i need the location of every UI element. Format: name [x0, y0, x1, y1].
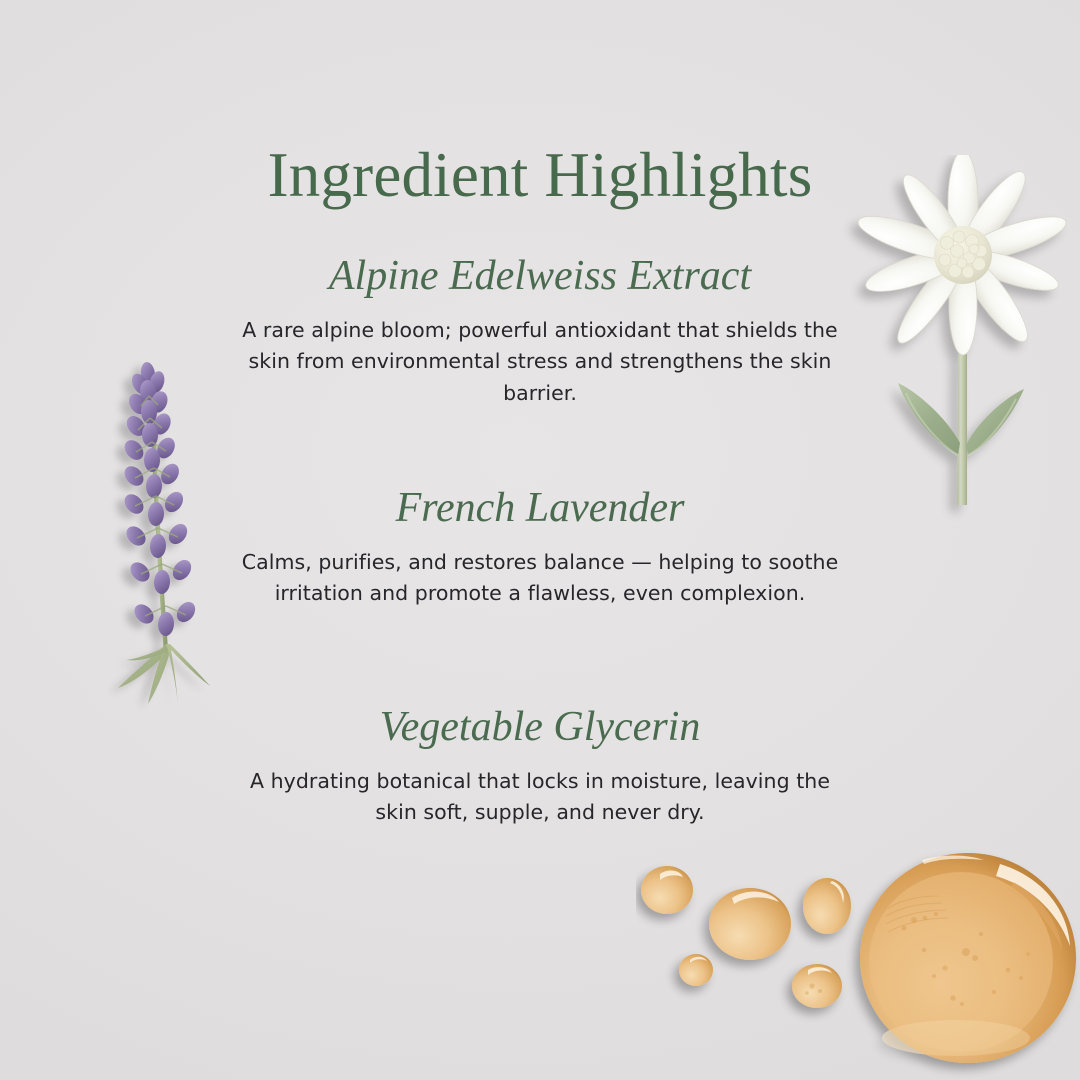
glycerin-droplets-image: [636, 846, 1080, 1080]
ingredient-description-edelweiss: A rare alpine bloom; powerful antioxidan…: [240, 315, 840, 410]
ingredient-description-glycerin: A hydrating botanical that locks in mois…: [240, 766, 840, 829]
ingredient-block-edelweiss: Alpine Edelweiss Extract A rare alpine b…: [240, 252, 840, 409]
lavender-sprig-image: [96, 352, 236, 712]
ingredient-name-glycerin: Vegetable Glycerin: [240, 703, 840, 752]
ingredient-block-lavender: French Lavender Calms, purifies, and res…: [240, 484, 840, 610]
ingredient-block-glycerin: Vegetable Glycerin A hydrating botanical…: [240, 703, 840, 829]
edelweiss-flower-image: [838, 155, 1080, 545]
poster-canvas: Ingredient Highlights Alpine Edelweiss E…: [0, 0, 1080, 1080]
ingredient-description-lavender: Calms, purifies, and restores balance — …: [240, 547, 840, 610]
ingredient-name-lavender: French Lavender: [240, 484, 840, 533]
page-title: Ingredient Highlights: [240, 142, 840, 208]
ingredient-name-edelweiss: Alpine Edelweiss Extract: [240, 252, 840, 301]
